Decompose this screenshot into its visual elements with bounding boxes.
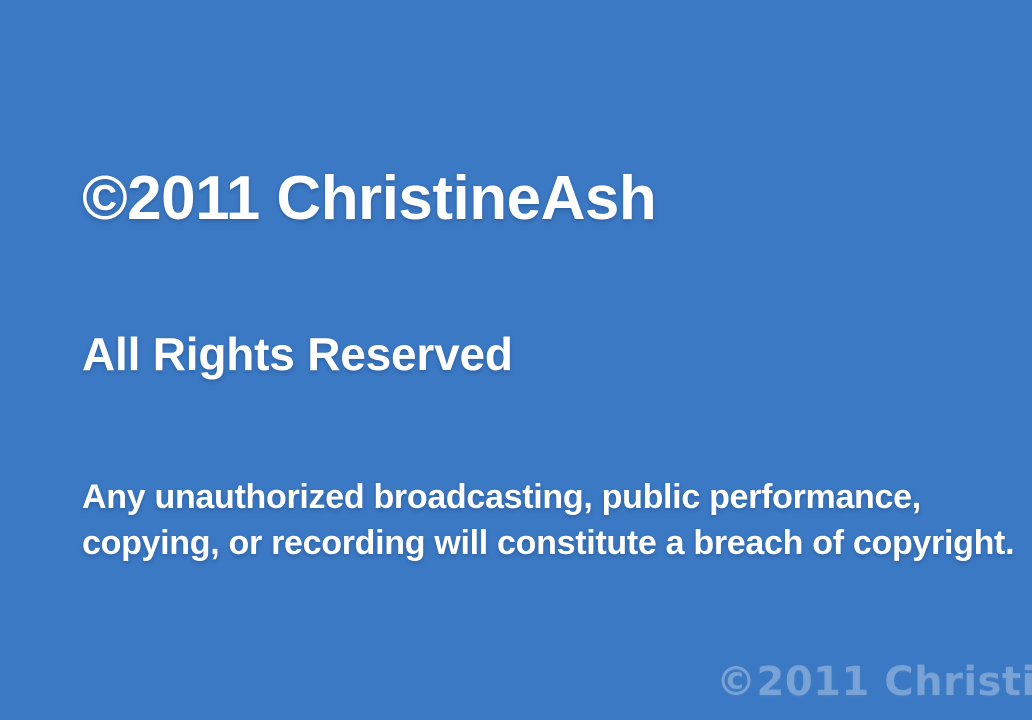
copyright-notice-line-1: Any unauthorized broadcasting, public pe… [82,474,1014,520]
copyright-slide: ©2011 ChristineAsh All Rights Reserved A… [0,0,1032,720]
copyright-notice: Any unauthorized broadcasting, public pe… [82,474,1014,566]
watermark: ©2011 ChristineAsh [716,662,1032,702]
copyright-notice-line-2: copying, or recording will constitute a … [82,520,1014,566]
rights-statement: All Rights Reserved [82,331,513,377]
page-title: ©2011 ChristineAsh [82,168,656,230]
